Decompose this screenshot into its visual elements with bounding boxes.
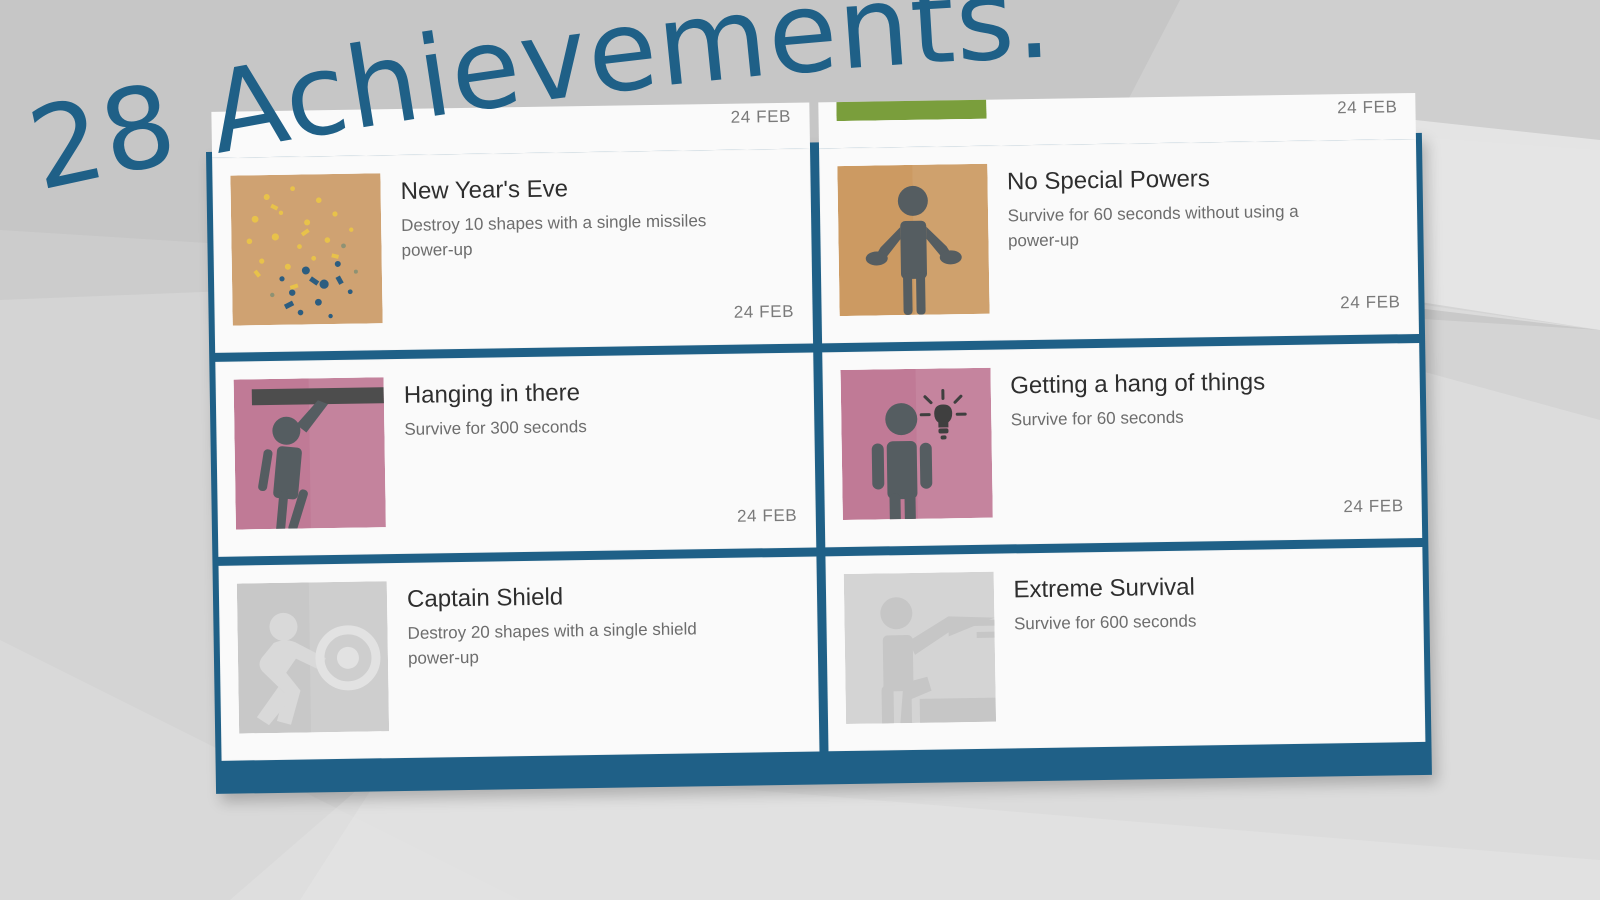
shrugging-figure-icon: [837, 164, 989, 316]
achievement-description: Survive for 300 seconds: [404, 413, 734, 443]
achievement-card-captain-shield[interactable]: Captain Shield Destroy 20 shapes with a …: [219, 556, 819, 760]
achievements-grid: New Year's Eve Destroy 10 shapes with a …: [212, 139, 1425, 761]
achievement-title: No Special Powers: [1007, 162, 1399, 196]
achievements-panel-container: 24 FEB 24 FEB: [206, 133, 1432, 794]
achievement-card-extreme-survival[interactable]: Extreme Survival Survive for 600 seconds: [825, 547, 1425, 751]
achievement-date: 24 FEB: [1343, 496, 1404, 517]
achievement-title: Hanging in there: [404, 376, 796, 410]
achievement-date: 24 FEB: [737, 506, 798, 527]
achievement-date: 24 FEB: [1337, 97, 1398, 118]
achievement-description: Survive for 60 seconds: [1011, 404, 1341, 434]
achievement-title: New Year's Eve: [400, 172, 792, 206]
achievement-date: 24 FEB: [734, 302, 795, 323]
achievement-description: Survive for 60 seconds without using a p…: [1007, 200, 1338, 254]
achievement-card-no-special-powers[interactable]: No Special Powers Survive for 60 seconds…: [819, 139, 1419, 343]
achievement-card-getting-a-hang-of-things[interactable]: Getting a hang of things Survive for 60 …: [822, 343, 1422, 547]
achievement-title: Extreme Survival: [1013, 570, 1405, 604]
achievement-description: Destroy 20 shapes with a single shield p…: [407, 617, 738, 671]
confetti-burst-icon: [230, 173, 382, 325]
achievement-card-new-years-eve[interactable]: New Year's Eve Destroy 10 shapes with a …: [212, 149, 812, 353]
achievement-description: Survive for 600 seconds: [1014, 607, 1344, 637]
achievement-title: Getting a hang of things: [1010, 366, 1402, 400]
achievement-card-hanging-in-there[interactable]: Hanging in there Survive for 300 seconds…: [215, 352, 815, 556]
running-figure-shield-icon: [237, 581, 389, 733]
figure-planting-flag-icon: [843, 572, 995, 724]
achievement-description: Destroy 10 shapes with a single missiles…: [401, 209, 732, 263]
achievement-date: 24 FEB: [731, 107, 792, 128]
achievements-panel: 24 FEB 24 FEB: [206, 133, 1432, 794]
achievement-title: Captain Shield: [407, 580, 799, 614]
figure-hanging-from-bar-icon: [234, 377, 386, 529]
achievement-date: 24 FEB: [1340, 292, 1401, 313]
figure-with-lightbulb-icon: [840, 368, 992, 520]
